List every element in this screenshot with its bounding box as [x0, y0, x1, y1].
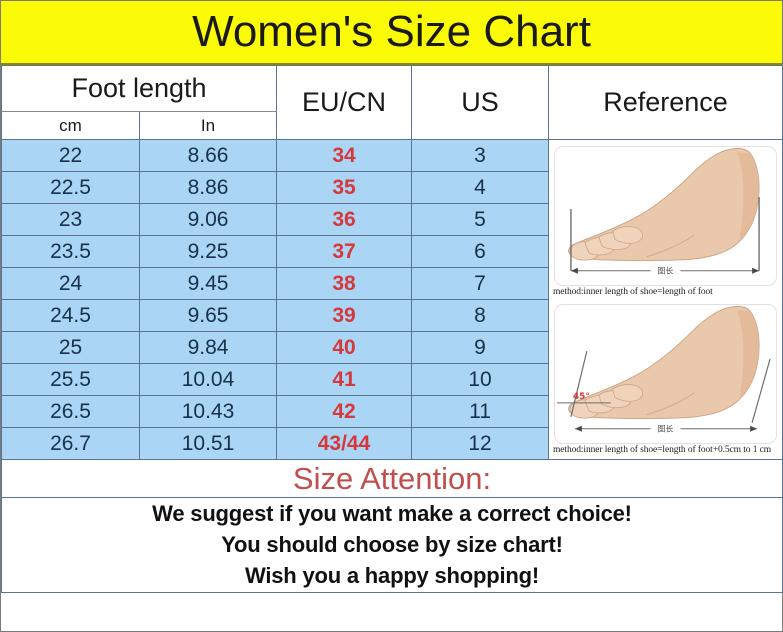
cell-in: 10.04	[140, 364, 277, 396]
cell-in: 9.84	[140, 332, 277, 364]
cell-eu: 36	[277, 204, 412, 236]
foot-side-view-angle-icon: 图长 45°	[555, 305, 776, 443]
cell-cm: 22.5	[2, 172, 140, 204]
attention-body-cell: We suggest if you want make a correct ch…	[2, 498, 783, 593]
foot-measure-illustration-1: 图长	[554, 146, 777, 286]
cell-cm: 24	[2, 268, 140, 300]
attention-body-row: We suggest if you want make a correct ch…	[2, 498, 783, 593]
cell-cm: 24.5	[2, 300, 140, 332]
cell-us: 9	[412, 332, 549, 364]
attention-heading-cell: Size Attention:	[2, 460, 783, 498]
cell-us: 12	[412, 428, 549, 460]
cell-in: 10.51	[140, 428, 277, 460]
cell-eu: 41	[277, 364, 412, 396]
measure-label-1: 图长	[658, 265, 674, 275]
cell-cm: 25	[2, 332, 140, 364]
cell-us: 10	[412, 364, 549, 396]
attention-line-3: Wish you a happy shopping!	[2, 560, 782, 591]
size-chart-table: Foot length EU/CN US Reference cm In 22 …	[1, 65, 783, 593]
cell-in: 10.43	[140, 396, 277, 428]
cell-cm: 25.5	[2, 364, 140, 396]
reference-caption-1: method:inner length of shoe=length of fo…	[549, 286, 782, 300]
cell-cm: 26.5	[2, 396, 140, 428]
column-header-cm: cm	[2, 112, 140, 140]
cell-us: 11	[412, 396, 549, 428]
cell-eu: 40	[277, 332, 412, 364]
table-header-row-primary: Foot length EU/CN US Reference	[2, 66, 783, 112]
cell-eu: 39	[277, 300, 412, 332]
cell-eu: 43/44	[277, 428, 412, 460]
angle-label: 45°	[573, 391, 590, 401]
foot-measure-illustration-2: 图长 45°	[554, 304, 777, 444]
reference-diagram-1: 图长 method:inner length of shoe=length of…	[549, 142, 782, 300]
cell-eu: 42	[277, 396, 412, 428]
cell-in: 9.06	[140, 204, 277, 236]
cell-cm: 23	[2, 204, 140, 236]
measure-label-2: 图长	[658, 423, 674, 433]
cell-in: 9.45	[140, 268, 277, 300]
cell-us: 5	[412, 204, 549, 236]
table-row: 22 8.66 34 3	[2, 140, 783, 172]
cell-cm: 26.7	[2, 428, 140, 460]
column-header-foot-length: Foot length	[2, 66, 277, 112]
cell-in: 9.65	[140, 300, 277, 332]
cell-in: 8.86	[140, 172, 277, 204]
size-chart-page: Women's Size Chart Foot length EU/CN US …	[0, 0, 783, 632]
column-header-us: US	[412, 66, 549, 140]
reference-diagram-2: 图长 45° method:inner length of shoe=lengt…	[549, 300, 782, 458]
column-header-eu-cn: EU/CN	[277, 66, 412, 140]
cell-eu: 37	[277, 236, 412, 268]
attention-heading-row: Size Attention:	[2, 460, 783, 498]
column-header-in: In	[140, 112, 277, 140]
cell-us: 3	[412, 140, 549, 172]
cell-eu: 34	[277, 140, 412, 172]
cell-in: 9.25	[140, 236, 277, 268]
cell-eu: 38	[277, 268, 412, 300]
reference-caption-2: method:inner length of shoe=length of fo…	[549, 444, 782, 458]
cell-us: 8	[412, 300, 549, 332]
cell-us: 7	[412, 268, 549, 300]
cell-in: 8.66	[140, 140, 277, 172]
cell-cm: 22	[2, 140, 140, 172]
cell-us: 4	[412, 172, 549, 204]
page-title-banner: Women's Size Chart	[1, 1, 782, 65]
reference-cell: 图长 method:inner length of shoe=length of…	[549, 140, 783, 460]
page-title: Women's Size Chart	[192, 7, 591, 57]
attention-heading: Size Attention:	[2, 461, 782, 497]
cell-eu: 35	[277, 172, 412, 204]
attention-line-2: You should choose by size chart!	[2, 529, 782, 560]
attention-line-1: We suggest if you want make a correct ch…	[2, 498, 782, 529]
cell-cm: 23.5	[2, 236, 140, 268]
foot-side-view-icon: 图长	[555, 147, 776, 285]
column-header-reference: Reference	[549, 66, 783, 140]
cell-us: 6	[412, 236, 549, 268]
